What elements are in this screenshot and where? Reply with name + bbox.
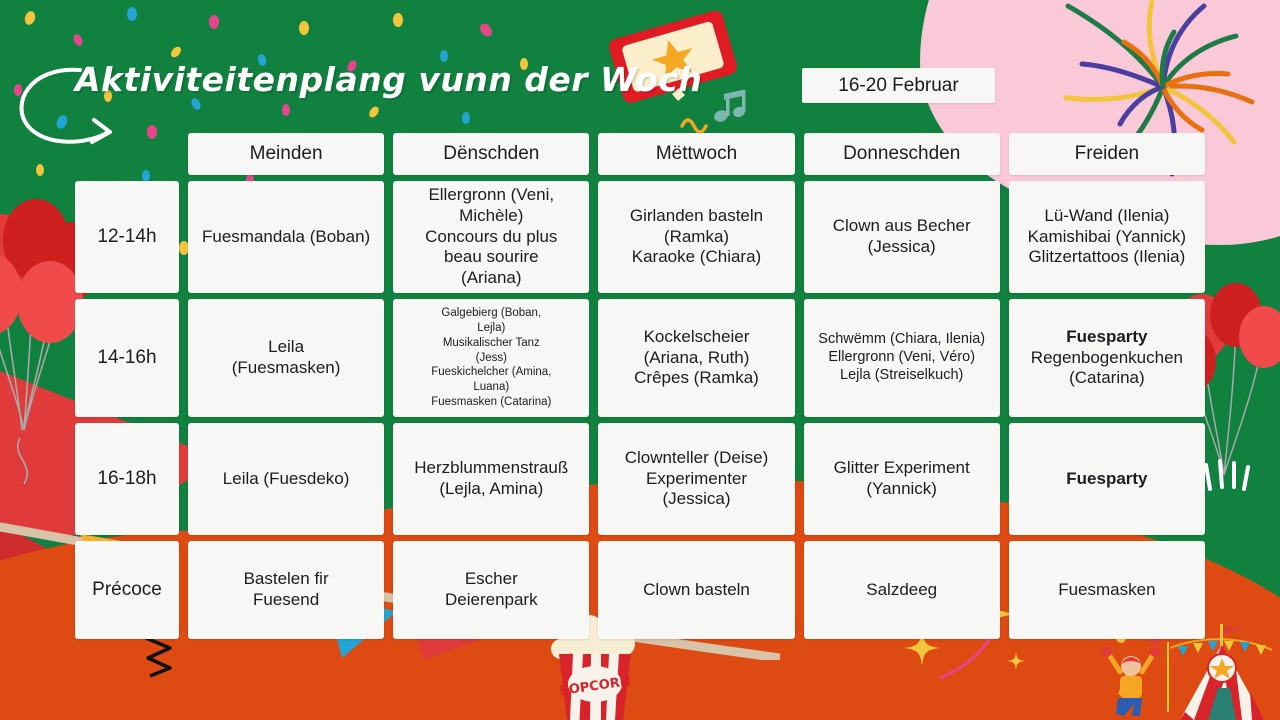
- activity-line: (Catarina): [1031, 368, 1183, 389]
- activity-cell-r2c4[interactable]: Schwëmm (Chiara, Ilenia)Ellergronn (Veni…: [804, 299, 1000, 417]
- activity-line: (Fuesmasken): [232, 358, 341, 379]
- time-slot-label: 16-18h: [75, 423, 179, 535]
- activity-line: Lü-Wand (Ilenia): [1028, 206, 1186, 227]
- activity-line: Luana): [431, 380, 551, 395]
- activity-cell-r1c2[interactable]: Ellergronn (Veni,Michèle)Concours du plu…: [393, 181, 589, 293]
- time-slot-label: Précoce: [75, 541, 179, 639]
- activity-line: Clown aus Becher: [833, 216, 971, 237]
- activity-cell-r2c5[interactable]: FuespartyRegenbogenkuchen(Catarina): [1009, 299, 1205, 417]
- activity-cell-r4c1[interactable]: Bastelen firFuesend: [188, 541, 384, 639]
- activity-line: (Jess): [431, 351, 551, 366]
- activity-line: Fuesmandala (Boban): [202, 227, 370, 248]
- schedule-table: MeindenDënschdenMëttwochDonneschdenFreid…: [75, 133, 1205, 617]
- activity-cell-r3c5[interactable]: Fuesparty: [1009, 423, 1205, 535]
- activity-line: Karaoke (Chiara): [630, 247, 763, 268]
- activity-line: (Jessica): [833, 237, 971, 258]
- activity-line: Ellergronn (Veni, Véro): [818, 349, 985, 367]
- activity-line: beau sourire: [425, 247, 557, 268]
- activity-line: Lejla (Streiselkuch): [818, 367, 985, 385]
- day-header-1: Meinden: [188, 133, 384, 175]
- activity-line: Regenbogenkuchen: [1031, 348, 1183, 369]
- activity-cell-r4c4[interactable]: Salzdeeg: [804, 541, 1000, 639]
- activity-line: Leila: [232, 337, 341, 358]
- activity-line: (Jessica): [625, 489, 769, 510]
- activity-line: (Ariana): [425, 268, 557, 289]
- activity-cell-r1c4[interactable]: Clown aus Becher(Jessica): [804, 181, 1000, 293]
- activity-line: Leila (Fuesdeko): [223, 469, 350, 490]
- activity-line: Fuesmasken (Catarina): [431, 395, 551, 410]
- activity-line: Fuesmasken: [1058, 580, 1155, 601]
- activity-line: Salzdeeg: [866, 580, 937, 601]
- date-range-badge: 16-20 Februar: [802, 68, 995, 103]
- activity-line: (Ariana, Ruth): [634, 348, 759, 369]
- activity-line: Schwëmm (Chiara, Ilenia): [818, 331, 985, 349]
- activity-line: (Yannick): [834, 479, 970, 500]
- activity-line: Escher: [445, 569, 538, 590]
- activity-cell-r4c5[interactable]: Fuesmasken: [1009, 541, 1205, 639]
- activity-line: Deierenpark: [445, 590, 538, 611]
- sparkle-lines-icon: [1198, 455, 1258, 515]
- activity-line: Clown basteln: [643, 580, 750, 601]
- activity-cell-r3c1[interactable]: Leila (Fuesdeko): [188, 423, 384, 535]
- activity-line: Concours du plus: [425, 227, 557, 248]
- activity-line: Michèle): [425, 206, 557, 227]
- activity-line: Galgebierg (Boban,: [431, 306, 551, 321]
- day-header-4: Donneschden: [804, 133, 1000, 175]
- poster-canvas: POPCORN: [0, 0, 1280, 720]
- activity-line: Kockelscheier: [634, 327, 759, 348]
- activity-cell-r2c3[interactable]: Kockelscheier(Ariana, Ruth)Crêpes (Ramka…: [598, 299, 794, 417]
- activity-cell-r1c3[interactable]: Girlanden basteln(Ramka)Karaoke (Chiara): [598, 181, 794, 293]
- activity-line: Glitzertattoos (Ilenia): [1028, 247, 1186, 268]
- activity-line: (Lejla, Amina): [414, 479, 568, 500]
- activity-line: Lejla): [431, 321, 551, 336]
- activity-cell-r2c2[interactable]: Galgebierg (Boban,Lejla)Musikalischer Ta…: [393, 299, 589, 417]
- activity-line: Glitter Experiment: [834, 458, 970, 479]
- day-header-3: Mëttwoch: [598, 133, 794, 175]
- activity-line: (Ramka): [630, 227, 763, 248]
- day-header-2: Dënschden: [393, 133, 589, 175]
- activity-cell-r1c5[interactable]: Lü-Wand (Ilenia)Kamishibai (Yannick)Glit…: [1009, 181, 1205, 293]
- activity-cell-r3c3[interactable]: Clownteller (Deise)Experimenter(Jessica): [598, 423, 794, 535]
- activity-line: Girlanden basteln: [630, 206, 763, 227]
- table-corner-cell: [75, 133, 179, 175]
- activity-line: Musikalischer Tanz: [431, 336, 551, 351]
- page-title: Aktiviteitenplang vunn der Woch: [75, 60, 702, 99]
- activity-line: Ellergronn (Veni,: [425, 185, 557, 206]
- time-slot-label: 14-16h: [75, 299, 179, 417]
- clown-icon: [1102, 629, 1161, 716]
- activity-cell-r4c3[interactable]: Clown basteln: [598, 541, 794, 639]
- activity-line: Bastelen fir: [244, 569, 329, 590]
- day-header-5: Freiden: [1009, 133, 1205, 175]
- activity-line: Fuesend: [244, 590, 329, 611]
- activity-line: Crêpes (Ramka): [634, 368, 759, 389]
- activity-line: Fuesparty: [1066, 469, 1147, 490]
- activity-line: Fueskichelcher (Amina,: [431, 365, 551, 380]
- svg-text:POPCORN: POPCORN: [559, 674, 632, 699]
- time-slot-label: 12-14h: [75, 181, 179, 293]
- activity-line: Kamishibai (Yannick): [1028, 227, 1186, 248]
- activity-cell-r2c1[interactable]: Leila(Fuesmasken): [188, 299, 384, 417]
- activity-cell-r1c1[interactable]: Fuesmandala (Boban): [188, 181, 384, 293]
- activity-line: Fuesparty: [1031, 327, 1183, 348]
- activity-cell-r4c2[interactable]: EscherDeierenpark: [393, 541, 589, 639]
- activity-cell-r3c4[interactable]: Glitter Experiment(Yannick): [804, 423, 1000, 535]
- activity-line: Clownteller (Deise): [625, 448, 769, 469]
- activity-line: Herzblummenstrauß: [414, 458, 568, 479]
- activity-line: Experimenter: [625, 469, 769, 490]
- activity-cell-r3c2[interactable]: Herzblummenstrauß(Lejla, Amina): [393, 423, 589, 535]
